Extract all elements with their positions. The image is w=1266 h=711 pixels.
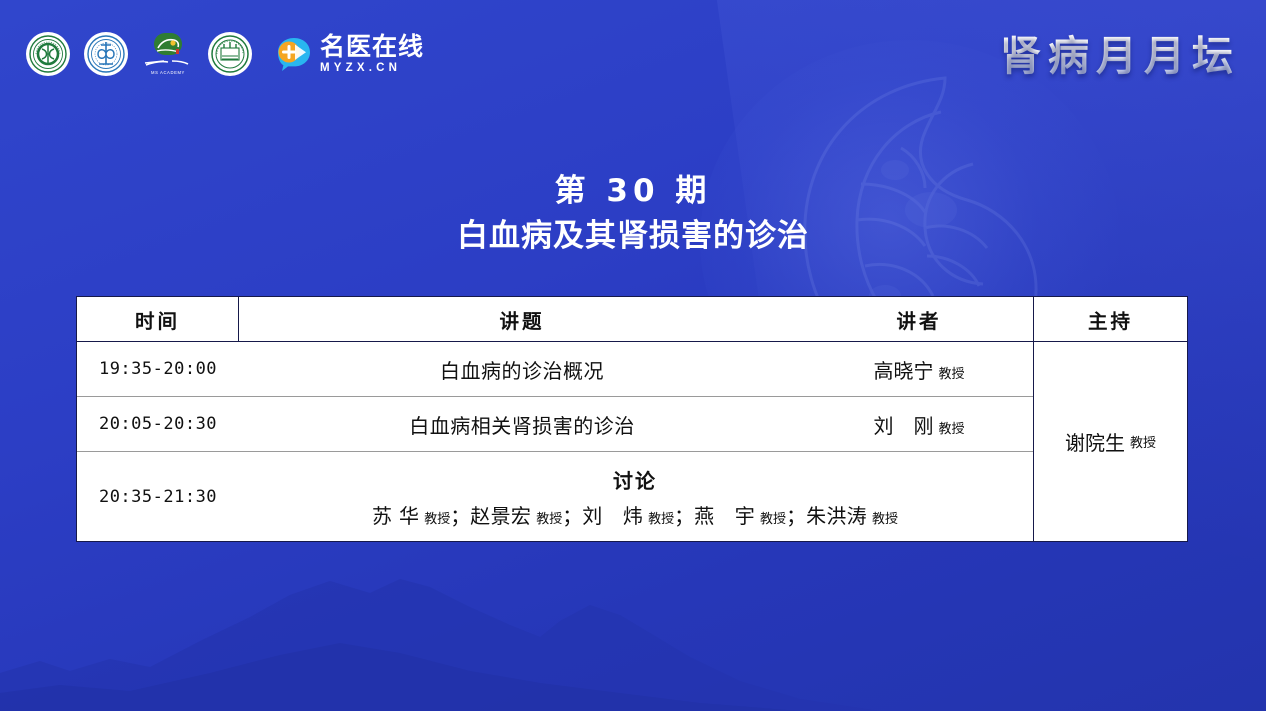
mountain-silhouette [0, 521, 1266, 711]
presentation-slide: MS ACADEMY [0, 0, 1266, 711]
table-row: 19:35-20:00 白血病的诊治概况 高晓宁教授 [77, 342, 1033, 397]
session-topic: 白血病的诊治概况 [239, 355, 805, 384]
myzx-brand-logo: 名医在线 MYZX.CN [276, 34, 424, 75]
myzx-logo-en-text: MYZX.CN [320, 63, 424, 75]
host-cell: 谢院生教授 [1034, 342, 1187, 541]
discussion-panelists: 苏 华教授；赵景宏教授；刘 炜教授；燕 宇教授；朱洪涛教授 [372, 500, 898, 529]
panelist-title: 教授 [648, 512, 674, 527]
panelist-title: 教授 [424, 512, 450, 527]
yi-academy-logo-icon: MS ACADEMY [142, 31, 194, 77]
column-header-speaker: 讲者 [805, 297, 1033, 341]
session-topic: 白血病相关肾损害的诊治 [239, 410, 805, 439]
session-speaker: 高晓宁教授 [805, 355, 1033, 384]
panelist-name: 苏 华 [372, 504, 419, 528]
speaker-title: 教授 [938, 367, 964, 382]
speaker-title: 教授 [938, 422, 964, 437]
discussion-body: 讨论 苏 华教授；赵景宏教授；刘 炜教授；燕 宇教授；朱洪涛教授 [239, 465, 1033, 529]
session-time: 20:05-20:30 [77, 414, 239, 434]
schedule-table: 时间 讲题 讲者 19:35-20:00 白血病的诊治概况 高晓宁教授 20:0… [76, 296, 1188, 542]
partner-logo-bar: MS ACADEMY [26, 26, 424, 82]
discussion-label: 讨论 [613, 465, 657, 494]
column-header-host: 主持 [1034, 297, 1187, 342]
panelist-separator: ； [450, 504, 470, 528]
panelist-name: 朱洪涛 [806, 504, 867, 528]
schedule-host-column: 主持 谢院生教授 [1034, 297, 1187, 541]
session-time: 19:35-20:00 [77, 359, 239, 379]
panelist-separator: ； [786, 504, 806, 528]
panelist-name: 赵景宏 [470, 504, 531, 528]
speaker-name: 刘 刚 [873, 414, 933, 438]
hospital-seal-blue-icon [84, 32, 128, 76]
host-name: 谢院生 [1065, 427, 1125, 456]
table-row-discussion: 20:35-21:30 讨论 苏 华教授；赵景宏教授；刘 炜教授；燕 宇教授；朱… [77, 452, 1033, 541]
session-speaker: 刘 刚教授 [805, 410, 1033, 439]
panelist-title: 教授 [872, 512, 898, 527]
panelist-name: 燕 宇 [694, 504, 755, 528]
svg-text:MS ACADEMY: MS ACADEMY [151, 70, 185, 75]
speaker-name: 高晓宁 [873, 359, 933, 383]
hospital-seal-green-icon [26, 32, 70, 76]
table-header-row: 时间 讲题 讲者 [77, 297, 1033, 342]
schedule-main-columns: 时间 讲题 讲者 19:35-20:00 白血病的诊治概况 高晓宁教授 20:0… [77, 297, 1034, 541]
panelist-separator: ； [674, 504, 694, 528]
discussion-time: 20:35-21:30 [77, 487, 239, 507]
panelist-title: 教授 [536, 512, 562, 527]
play-bubble-icon [276, 36, 312, 72]
panelist-name: 刘 炜 [582, 504, 643, 528]
university-seal-green-icon [208, 32, 252, 76]
issue-number: 第 30 期 [0, 172, 1266, 212]
table-row: 20:05-20:30 白血病相关肾损害的诊治 刘 刚教授 [77, 397, 1033, 452]
panelist-title: 教授 [760, 512, 786, 527]
column-header-time: 时间 [77, 297, 239, 341]
page-title: 白血病及其肾损害的诊治 [0, 216, 1266, 256]
column-header-topic: 讲题 [239, 297, 805, 341]
slide-title-block: 第 30 期 白血病及其肾损害的诊治 [0, 172, 1266, 256]
panelist-separator: ； [562, 504, 582, 528]
series-brand-banner: 肾病月月坛 [1000, 22, 1240, 82]
myzx-logo-cn-text: 名医在线 [320, 34, 424, 59]
host-title: 教授 [1130, 432, 1156, 451]
